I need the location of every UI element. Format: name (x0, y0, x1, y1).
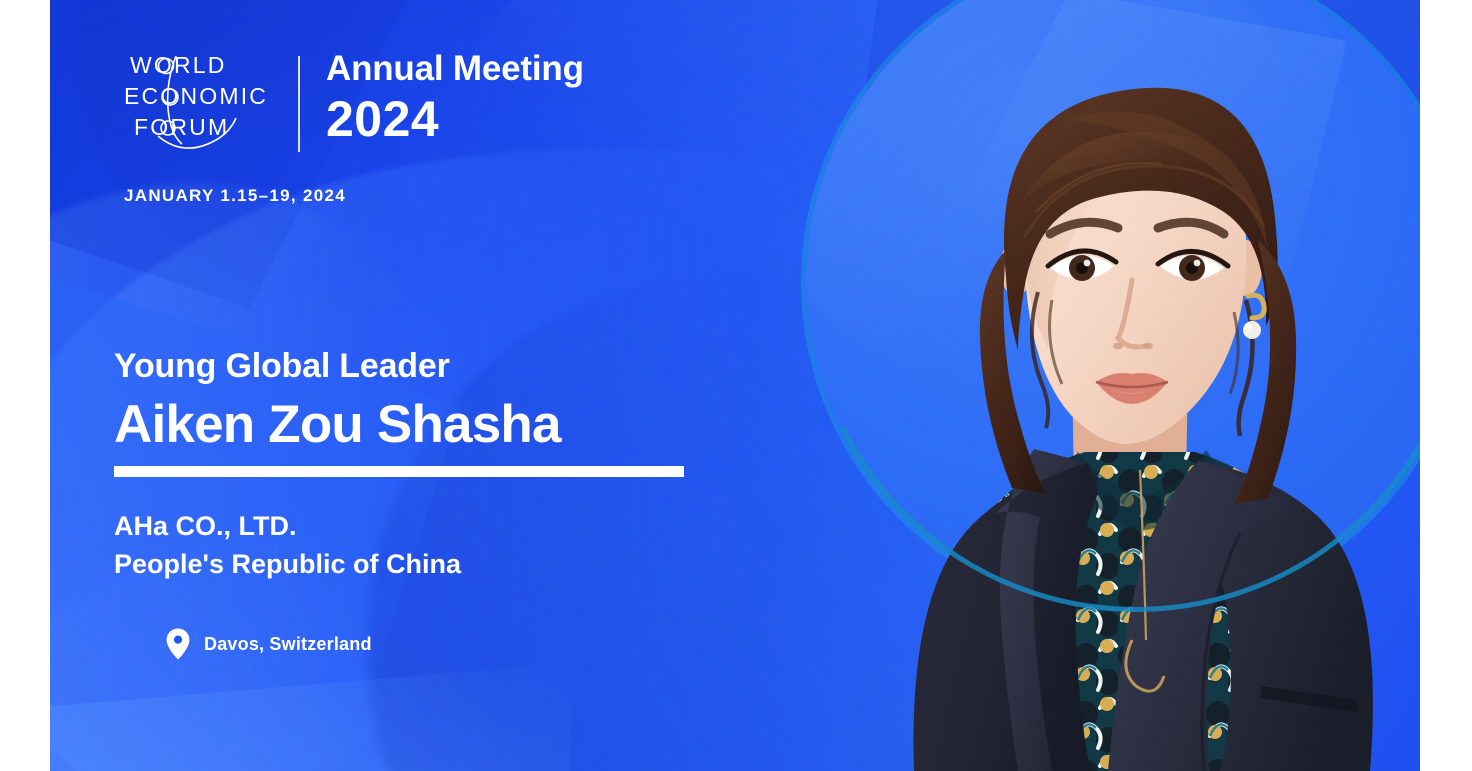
header-text: Annual Meeting 2024 (326, 50, 584, 144)
location-label: Davos, Switzerland (204, 634, 372, 655)
header-divider (298, 56, 300, 152)
speaker-organization: AHa CO., LTD. (114, 507, 684, 545)
poster-canvas: WORLD ECONOMIC FORUM Annual Meeting (50, 0, 1420, 771)
wef-logo-icon: WORLD ECONOMIC FORUM (124, 50, 276, 158)
logo-line-3: FORUM (134, 114, 229, 140)
event-dates: JANUARY 1.15–19, 2024 (124, 186, 346, 206)
speaker-affiliation: AHa CO., LTD. People's Republic of China (114, 507, 684, 584)
name-underline-rule (114, 466, 684, 477)
speaker-country: People's Republic of China (114, 545, 684, 583)
speaker-info-block: Young Global Leader Aiken Zou Shasha AHa… (114, 348, 684, 583)
event-year: 2024 (326, 94, 584, 144)
map-pin-icon (166, 628, 190, 660)
logo-line-2: ECONOMIC (124, 83, 268, 109)
speaker-portrait (810, 0, 1420, 771)
event-title: Annual Meeting (326, 50, 584, 88)
event-location: Davos, Switzerland (166, 628, 372, 660)
poster-header: WORLD ECONOMIC FORUM Annual Meeting (124, 50, 584, 158)
speaker-role: Young Global Leader (114, 348, 684, 385)
wef-speaker-card: WORLD ECONOMIC FORUM Annual Meeting (0, 0, 1472, 771)
speaker-name: Aiken Zou Shasha (114, 397, 684, 453)
logo-line-1: WORLD (130, 52, 227, 78)
